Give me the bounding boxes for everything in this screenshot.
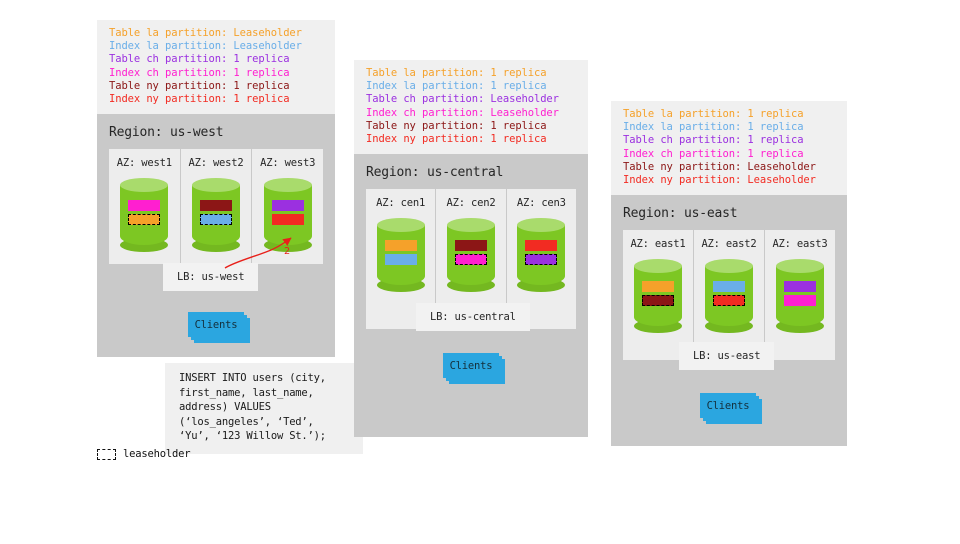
region-title-us-west: Region: us-west (97, 114, 335, 149)
partition-replica (784, 295, 816, 306)
az-row-us-west: AZ: west1AZ: west2AZ: west3 (109, 149, 323, 264)
az-east1: AZ: east1 (623, 230, 694, 360)
az-east2: AZ: east2 (694, 230, 765, 360)
partition-replica-leaseholder (455, 254, 487, 265)
az-west1: AZ: west1 (109, 149, 181, 264)
key-leaseholder: leaseholder (97, 448, 190, 460)
partition-slots (377, 240, 425, 265)
region-title-us-east: Region: us-east (611, 195, 847, 230)
partition-replica (713, 281, 745, 292)
table-ny-line: Table ny partition: Leaseholder (623, 161, 837, 174)
partition-replica (784, 281, 816, 292)
clients-us-east[interactable]: Clients (700, 393, 756, 418)
partition-slots (447, 240, 495, 265)
lb-us-west[interactable]: LB: us-west (163, 263, 258, 291)
database-cylinder-icon (705, 259, 753, 333)
index-ny-line: Index ny partition: 1 replica (109, 93, 325, 106)
table-la-line: Table la partition: 1 replica (623, 108, 837, 121)
database-cylinder-icon (517, 218, 565, 292)
partition-slots (264, 200, 312, 225)
partition-replica (272, 200, 304, 211)
database-cylinder-icon (120, 178, 168, 252)
legend-us-central: Table la partition: 1 replicaIndex la pa… (354, 60, 588, 154)
partition-slots (705, 281, 753, 306)
table-la-line: Table la partition: Leaseholder (109, 27, 325, 40)
index-la-line: Index la partition: 1 replica (623, 121, 837, 134)
index-la-line: Index la partition: 1 replica (366, 80, 578, 93)
partition-slots (120, 200, 168, 225)
az-label: AZ: west1 (109, 157, 180, 169)
index-ch-line: Index ch partition: 1 replica (623, 148, 837, 161)
partition-slots (634, 281, 682, 306)
arrow-step-label: 2 (284, 246, 290, 257)
database-cylinder-icon (634, 259, 682, 333)
table-ch-line: Table ch partition: 1 replica (623, 134, 837, 147)
az-label: AZ: cen3 (507, 197, 576, 209)
az-label: AZ: cen1 (366, 197, 435, 209)
partition-slots (776, 281, 824, 306)
key-leaseholder-label: leaseholder (123, 448, 190, 460)
partition-replica (455, 240, 487, 251)
az-label: AZ: east2 (694, 238, 764, 250)
leaseholder-swatch-icon (97, 449, 116, 460)
legend-us-west: Table la partition: LeaseholderIndex la … (97, 20, 335, 114)
clients-label-us-west: Clients (188, 312, 244, 337)
az-east3: AZ: east3 (765, 230, 835, 360)
index-ch-line: Index ch partition: Leaseholder (366, 107, 578, 120)
partition-replica-leaseholder (200, 214, 232, 225)
table-ny-line: Table ny partition: 1 replica (109, 80, 325, 93)
table-ch-line: Table ch partition: Leaseholder (366, 93, 578, 106)
partition-slots (192, 200, 240, 225)
index-ny-line: Index ny partition: Leaseholder (623, 174, 837, 187)
az-label: AZ: cen2 (436, 197, 505, 209)
partition-replica-leaseholder (128, 214, 160, 225)
clients-us-west[interactable]: Clients (188, 312, 244, 337)
partition-replica (200, 200, 232, 211)
az-label: AZ: east3 (765, 238, 835, 250)
partition-replica (642, 281, 674, 292)
clients-label-us-central: Clients (443, 353, 499, 378)
index-ny-line: Index ny partition: 1 replica (366, 133, 578, 146)
legend-us-east: Table la partition: 1 replicaIndex la pa… (611, 101, 847, 195)
az-label: AZ: east1 (623, 238, 693, 250)
sql-insert-note: INSERT INTO users (city, first_name, las… (165, 363, 363, 454)
cluster-us-west: Table la partition: LeaseholderIndex la … (97, 20, 335, 357)
database-cylinder-icon (192, 178, 240, 252)
database-cylinder-icon (377, 218, 425, 292)
region-title-us-central: Region: us-central (354, 154, 588, 189)
region-us-central: Region: us-central AZ: cen1AZ: cen2AZ: c… (354, 154, 588, 437)
table-ny-line: Table ny partition: 1 replica (366, 120, 578, 133)
az-label: AZ: west2 (181, 157, 252, 169)
clients-us-central[interactable]: Clients (443, 353, 499, 378)
partition-replica (385, 254, 417, 265)
table-ch-line: Table ch partition: 1 replica (109, 53, 325, 66)
lb-us-east[interactable]: LB: us-east (679, 342, 774, 370)
partition-replica (128, 200, 160, 211)
clients-label-us-east: Clients (700, 393, 756, 418)
az-label: AZ: west3 (252, 157, 323, 169)
partition-replica (525, 240, 557, 251)
database-cylinder-icon (776, 259, 824, 333)
index-la-line: Index la partition: Leaseholder (109, 40, 325, 53)
lb-us-central[interactable]: LB: us-central (416, 303, 530, 331)
index-ch-line: Index ch partition: 1 replica (109, 67, 325, 80)
database-cylinder-icon (264, 178, 312, 252)
az-west2: AZ: west2 (181, 149, 253, 264)
partition-replica (272, 214, 304, 225)
partition-replica-leaseholder (713, 295, 745, 306)
table-la-line: Table la partition: 1 replica (366, 67, 578, 80)
partition-slots (517, 240, 565, 265)
az-row-us-east: AZ: east1AZ: east2AZ: east3 (623, 230, 835, 360)
partition-replica-leaseholder (525, 254, 557, 265)
database-cylinder-icon (447, 218, 495, 292)
partition-replica-leaseholder (642, 295, 674, 306)
partition-replica (385, 240, 417, 251)
